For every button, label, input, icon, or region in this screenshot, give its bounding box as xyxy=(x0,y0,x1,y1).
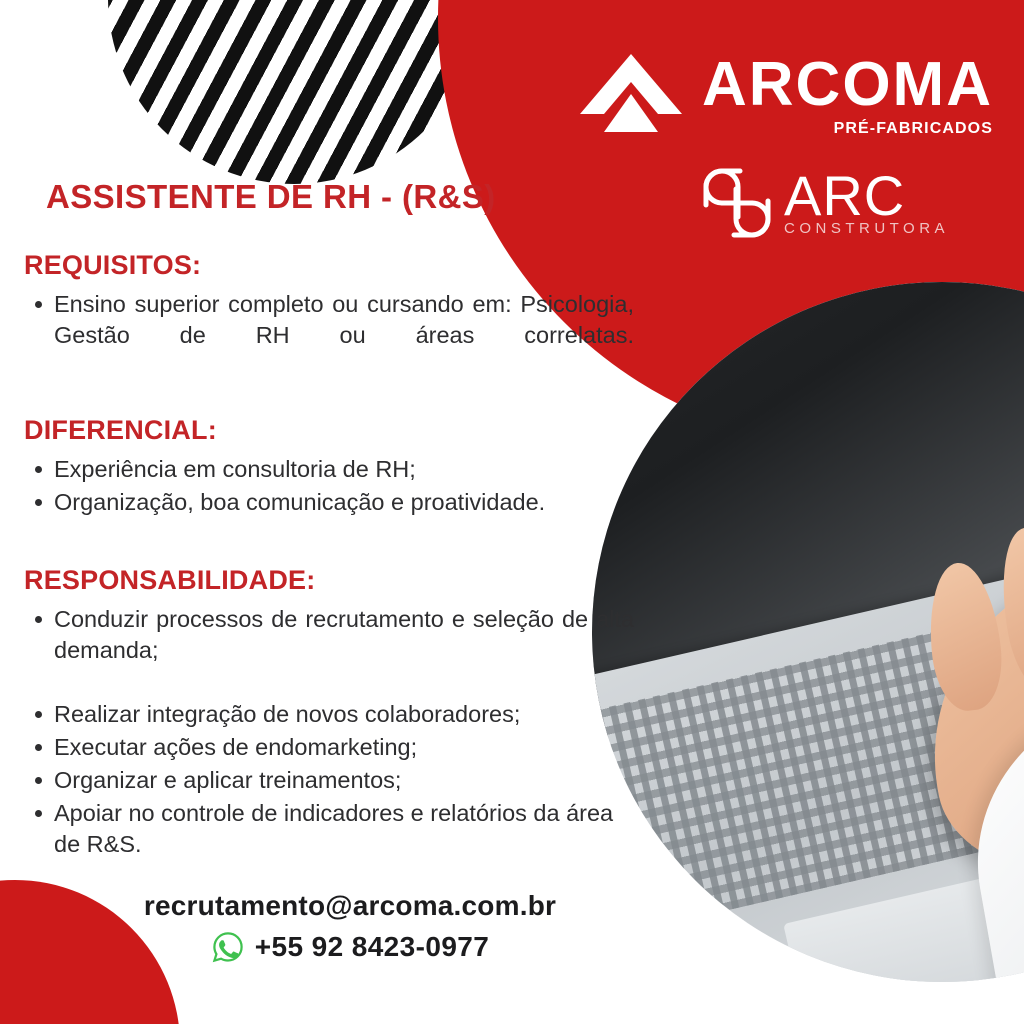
section-diferencial: DIFERENCIAL: Experiência em consultoria … xyxy=(24,415,634,520)
list-item: Experiência em consultoria de RH; xyxy=(54,454,634,485)
list-item: Executar ações de endomarketing; xyxy=(54,732,634,763)
section-responsabilidade: RESPONSABILIDADE: Conduzir processos de … xyxy=(24,565,634,862)
arc-name: ARC xyxy=(784,171,949,221)
job-posting-poster: MacBook Air ARCOMA PRÉ-FABRICADOS xyxy=(0,0,1024,1024)
list-item: Organizar e aplicar treinamentos; xyxy=(54,765,634,796)
contact-phone-row: +55 92 8423-0977 xyxy=(0,930,700,964)
section-requisitos: REQUISITOS: Ensino superior completo ou … xyxy=(24,250,634,384)
requisitos-list: Ensino superior completo ou cursando em:… xyxy=(24,289,634,382)
section-heading: RESPONSABILIDADE: xyxy=(24,565,634,596)
arc-wordmark: ARC CONSTRUTORA xyxy=(784,169,949,236)
diagonal-stripes-pattern xyxy=(108,0,480,184)
section-heading: REQUISITOS: xyxy=(24,250,634,281)
job-title: ASSISTENTE DE RH - (R&S) xyxy=(46,178,496,216)
list-item: Apoiar no controle de indicadores e rela… xyxy=(54,798,634,860)
section-heading: DIFERENCIAL: xyxy=(24,415,634,446)
arc-tagline: CONSTRUTORA xyxy=(784,220,949,237)
arcoma-tagline: PRÉ-FABRICADOS xyxy=(702,120,993,138)
arc-construtora-logo: ARC CONSTRUTORA xyxy=(700,165,949,241)
list-item: Ensino superior completo ou cursando em:… xyxy=(54,289,634,382)
responsabilidade-list: Conduzir processos de recrutamento e sel… xyxy=(24,604,634,860)
whatsapp-icon[interactable] xyxy=(211,930,245,964)
arcoma-logo: ARCOMA PRÉ-FABRICADOS xyxy=(578,52,993,140)
striped-circle-decoration xyxy=(108,0,480,184)
arcoma-wordmark: ARCOMA PRÉ-FABRICADOS xyxy=(702,52,993,138)
diferencial-list: Experiência em consultoria de RH; Organi… xyxy=(24,454,634,518)
list-item: Realizar integração de novos colaborador… xyxy=(54,699,634,730)
arcoma-name: ARCOMA xyxy=(702,56,993,114)
list-item: Conduzir processos de recrutamento e sel… xyxy=(54,604,634,697)
contact-phone[interactable]: +55 92 8423-0977 xyxy=(255,931,490,963)
list-item: Organização, boa comunicação e proativid… xyxy=(54,487,634,518)
laptop-photo-circle: MacBook Air xyxy=(592,282,1024,982)
contact-footer: recrutamento@arcoma.com.br +55 92 8423-0… xyxy=(0,890,700,964)
pinwheel-spiral-icon xyxy=(700,165,774,241)
contact-email[interactable]: recrutamento@arcoma.com.br xyxy=(0,890,700,922)
chevron-mountain-icon xyxy=(578,52,684,140)
